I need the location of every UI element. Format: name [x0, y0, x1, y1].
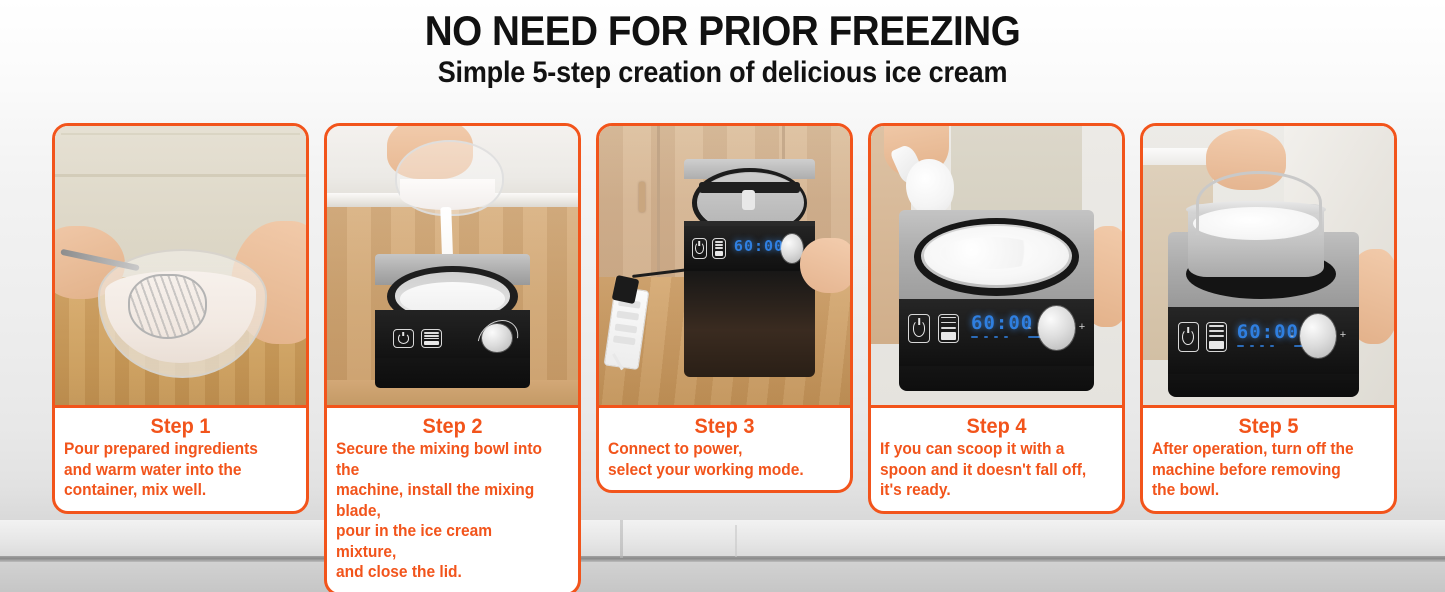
- step-label: Step 4: [886, 414, 1107, 439]
- display-indicators: [1237, 345, 1308, 347]
- step-caption-3: Step 3 Connect to power, select your wor…: [599, 408, 850, 490]
- rotary-knob[interactable]: [1300, 314, 1336, 358]
- whisk-icon: [128, 274, 207, 339]
- knob-minus-label: -: [1028, 323, 1032, 334]
- timer-display: 60:00: [971, 312, 1033, 334]
- bowl-wire-handle: [1196, 171, 1322, 235]
- hand: [800, 238, 850, 294]
- step-photo-2: [327, 126, 578, 408]
- page-title: NO NEED FOR PRIOR FREEZING: [58, 8, 1387, 54]
- step-text: If you can scoop it with a spoon and it …: [880, 439, 1099, 501]
- header: NO NEED FOR PRIOR FREEZING Simple 5-step…: [0, 8, 1445, 90]
- power-icon[interactable]: [692, 238, 706, 259]
- step-label: Step 5: [1158, 414, 1379, 439]
- step-card-4: 60:00 - + Step 4 If you can scoop it wit…: [868, 123, 1125, 514]
- infographic-page: NO NEED FOR PRIOR FREEZING Simple 5-step…: [0, 0, 1445, 592]
- step-photo-1: [55, 126, 306, 408]
- page-subtitle: Simple 5-step creation of delicious ice …: [72, 56, 1373, 90]
- knob-minus-label: -: [1290, 331, 1294, 342]
- step-label: Step 3: [614, 414, 835, 439]
- mode-icon[interactable]: [1206, 322, 1227, 351]
- step-photo-4: 60:00 - +: [871, 126, 1122, 408]
- control-panel: [375, 310, 531, 357]
- step-photo-5: 60:00 - +: [1143, 126, 1394, 408]
- mode-icon[interactable]: [938, 314, 960, 343]
- cabinet-handle: [639, 182, 645, 213]
- step-card-1: Step 1 Pour prepared ingredients and war…: [52, 123, 309, 514]
- step-caption-1: Step 1 Pour prepared ingredients and war…: [55, 408, 306, 511]
- timer-display: 60:00: [734, 237, 784, 255]
- step-label: Step 1: [70, 414, 291, 439]
- knob-plus-label: +: [1340, 330, 1346, 341]
- power-icon[interactable]: [908, 314, 930, 343]
- display-indicators: [971, 336, 1042, 338]
- control-panel: 60:00 - +: [899, 299, 1095, 366]
- rotary-knob[interactable]: [1038, 306, 1075, 350]
- finished-ice-cream: [924, 226, 1070, 285]
- control-panel: 60:00: [684, 226, 815, 271]
- step-caption-2: Step 2 Secure the mixing bowl into the m…: [327, 408, 578, 592]
- mixture-in-jug: [400, 179, 495, 210]
- power-icon[interactable]: [1178, 322, 1199, 351]
- step-text: Secure the mixing bowl into the machine,…: [336, 439, 555, 583]
- step-card-3: 60:00 Step 3 Connect to power, select yo…: [596, 123, 853, 493]
- step-text: After operation, turn off the machine be…: [1152, 439, 1371, 501]
- lid-hub: [742, 190, 755, 210]
- steps-row: Step 1 Pour prepared ingredients and war…: [52, 123, 1397, 535]
- control-panel: 60:00 - +: [1168, 307, 1359, 374]
- background-counter-front: [0, 562, 1445, 592]
- step-label: Step 2: [342, 414, 563, 439]
- step-text: Connect to power, select your working mo…: [608, 439, 827, 480]
- ice-cream-scoop: [906, 159, 954, 215]
- knob-plus-label: +: [1079, 322, 1085, 333]
- mode-icon[interactable]: [421, 329, 441, 348]
- step-card-2: Step 2 Secure the mixing bowl into the m…: [324, 123, 581, 592]
- step-photo-3: 60:00: [599, 126, 850, 408]
- step-caption-5: Step 5 After operation, turn off the mac…: [1143, 408, 1394, 511]
- power-icon[interactable]: [393, 329, 413, 348]
- mode-icon[interactable]: [712, 238, 726, 259]
- step-caption-4: Step 4 If you can scoop it with a spoon …: [871, 408, 1122, 511]
- step-card-5: 60:00 - + Step 5 After operation, turn o…: [1140, 123, 1397, 514]
- step-text: Pour prepared ingredients and warm water…: [64, 439, 283, 501]
